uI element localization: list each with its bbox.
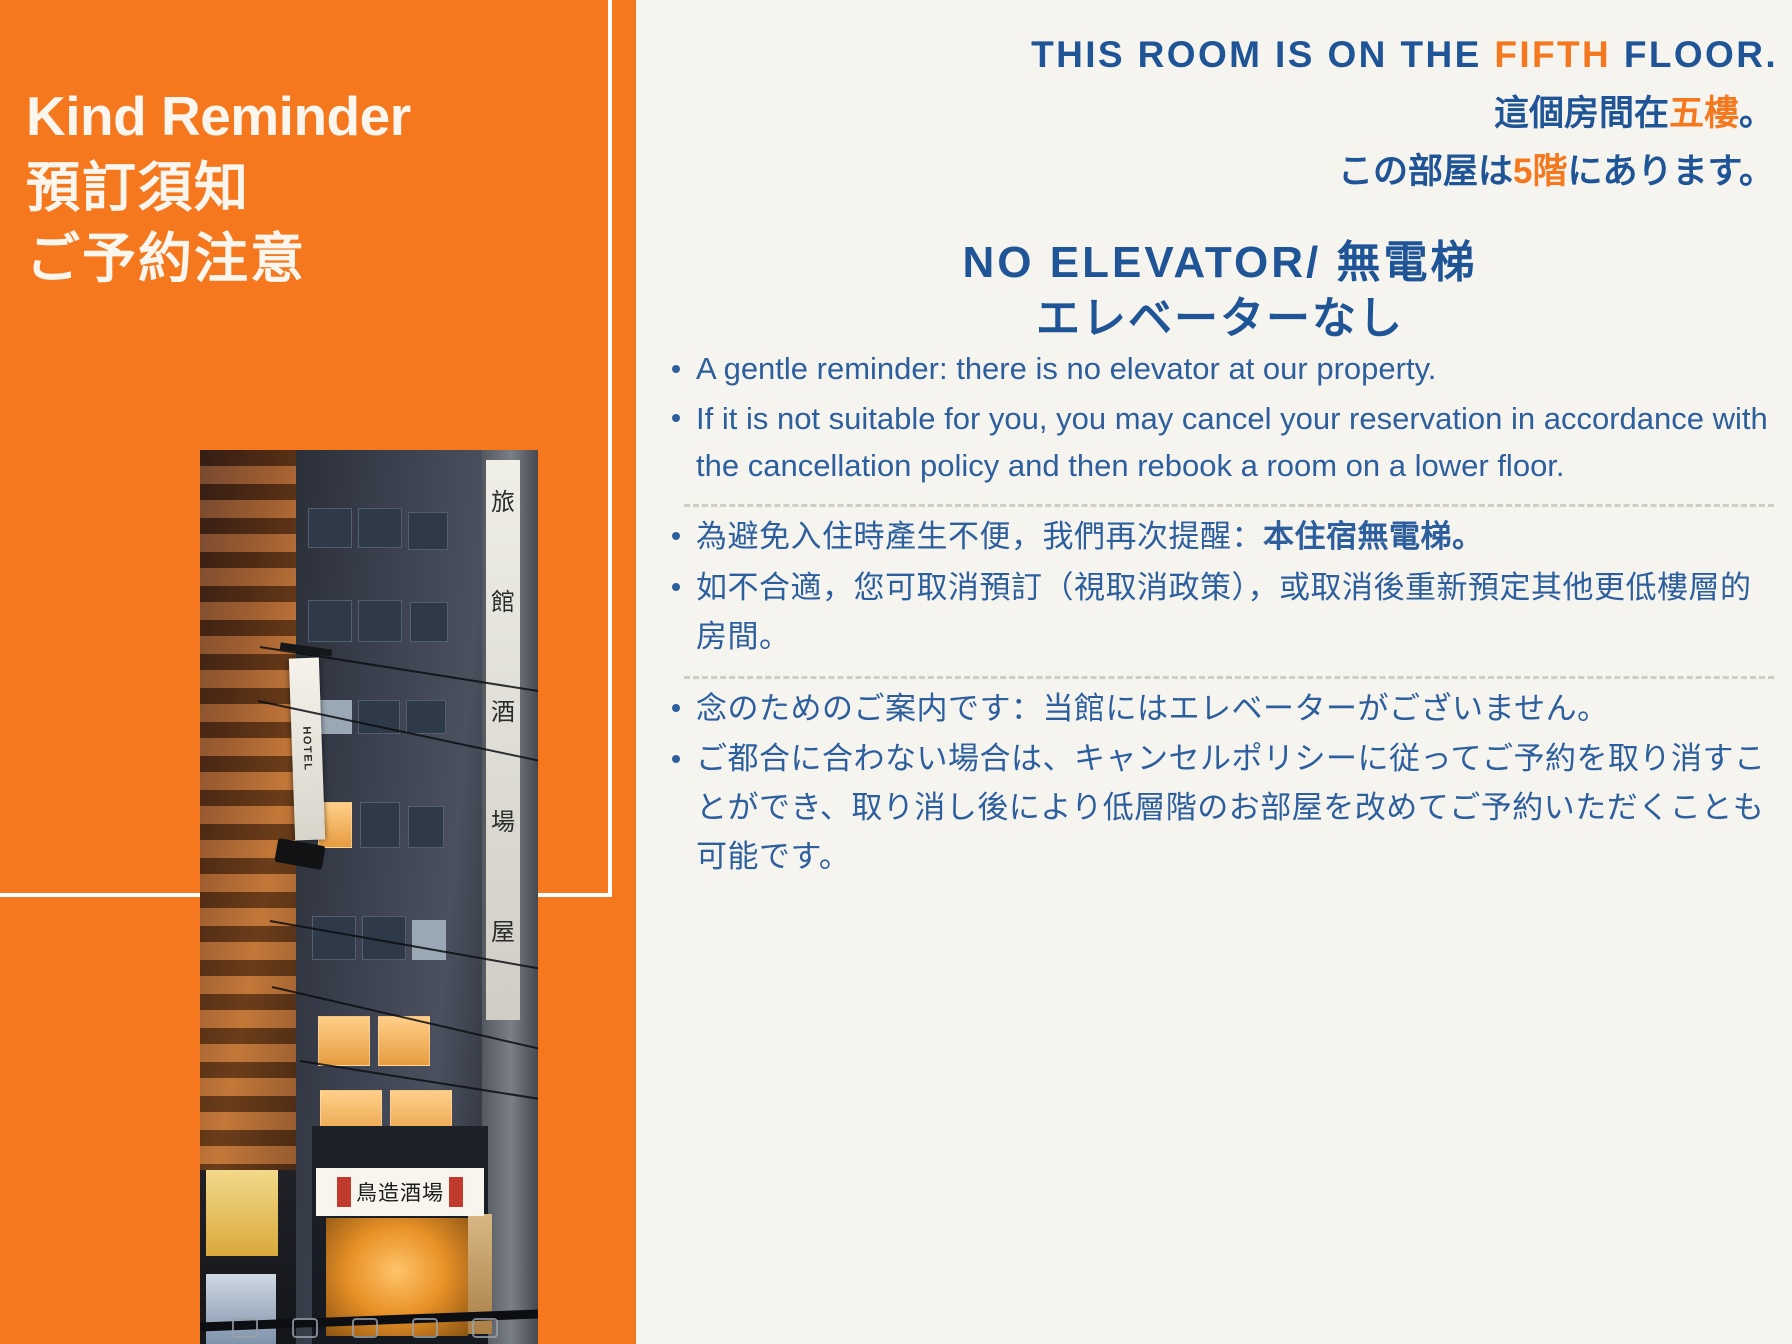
hotel-exterior-photo: HOTEL 旅 館 酒 場 屋 鳥造酒場 bbox=[200, 450, 538, 1344]
parked-bicycle bbox=[292, 1318, 318, 1338]
hotel-vertical-sign: HOTEL bbox=[289, 658, 325, 841]
parked-bicycle bbox=[352, 1318, 378, 1338]
title-chinese: 預訂須知 bbox=[26, 154, 606, 223]
adjacent-brick-building bbox=[200, 450, 304, 1170]
divider-zh-ja bbox=[684, 676, 1774, 679]
list-item: 如不合適，您可取消預訂（視取消政策），或取消後重新預定其他更低樓層的房間。 bbox=[658, 564, 1782, 662]
vertical-kanji-sign: 旅 館 酒 場 屋 bbox=[486, 460, 520, 1020]
header-line-english: THIS ROOM IS ON THE FIFTH FLOOR. bbox=[658, 34, 1782, 76]
sign-red-badge bbox=[449, 1177, 463, 1207]
subhead-line-2: エレベーターなし bbox=[658, 292, 1782, 346]
zh-item-plain: 為避免入住時產生不便，我們再次提醒： bbox=[696, 519, 1263, 554]
parked-bicycle bbox=[232, 1318, 258, 1338]
window bbox=[408, 512, 448, 550]
header-zh-accent: 五樓 bbox=[1669, 94, 1739, 133]
kanji-glyph: 酒 bbox=[486, 692, 520, 727]
window bbox=[358, 600, 402, 642]
neon-signboard bbox=[206, 1170, 278, 1256]
header-line-chinese: 這個房間在五樓。 bbox=[658, 85, 1782, 136]
header-en-accent: FIFTH bbox=[1494, 34, 1611, 75]
shop-sign-kanji: 鳥造酒場 bbox=[356, 1177, 444, 1207]
window bbox=[308, 600, 352, 642]
header-line-japanese: この部屋は5階にあります。 bbox=[658, 143, 1782, 194]
list-item: 為避免入住時產生不便，我們再次提醒：本住宿無電梯。 bbox=[658, 513, 1782, 562]
right-inner: THIS ROOM IS ON THE FIFTH FLOOR. 這個房間在五樓… bbox=[636, 0, 1792, 882]
title-english: Kind Reminder bbox=[26, 86, 606, 148]
photo-inner: HOTEL 旅 館 酒 場 屋 鳥造酒場 bbox=[200, 450, 538, 1344]
title-japanese: ご予約注意 bbox=[26, 225, 606, 294]
header-ja-accent: 5階 bbox=[1513, 152, 1567, 191]
kanji-glyph: 館 bbox=[486, 582, 520, 617]
list-item: If it is not suitable for you, you may c… bbox=[658, 395, 1782, 490]
bullet-list-japanese: 念のためのご案内です：当館にはエレベーターがございません。 ご都合に合わない場合… bbox=[658, 685, 1782, 883]
bullet-list-chinese: 為避免入住時產生不便，我們再次提醒：本住宿無電梯。 如不合適，您可取消預訂（視取… bbox=[658, 513, 1782, 662]
no-elevator-subheading: NO ELEVATOR/ 無電梯 エレベーターなし bbox=[658, 236, 1782, 345]
bullet-list-english: A gentle reminder: there is no elevator … bbox=[658, 345, 1782, 489]
header-zh-prefix: 這個房間在 bbox=[1494, 94, 1669, 133]
window-lit bbox=[318, 1016, 370, 1066]
parked-bicycle bbox=[472, 1318, 498, 1338]
window bbox=[358, 508, 402, 548]
list-item: ご都合に合わない場合は、キャンセルポリシーに従ってご予約を取り消すことができ、取… bbox=[658, 735, 1782, 882]
frame-line-vertical bbox=[608, 0, 612, 897]
kanji-glyph: 場 bbox=[486, 802, 520, 837]
list-item: A gentle reminder: there is no elevator … bbox=[658, 345, 1782, 392]
zh-item-bold: 本住宿無電梯。 bbox=[1263, 519, 1484, 554]
izakaya-signboard: 鳥造酒場 bbox=[316, 1168, 484, 1216]
window bbox=[312, 916, 356, 960]
header-ja-suffix: にあります。 bbox=[1567, 152, 1774, 191]
zh-item-plain: 如不合適，您可取消預訂（視取消政策），或取消後重新預定其他更低樓層的房間。 bbox=[696, 570, 1752, 654]
hotel-sign-label: HOTEL bbox=[300, 726, 314, 772]
kanji-glyph: 屋 bbox=[486, 912, 520, 947]
left-heading-block: Kind Reminder 預訂須知 ご予約注意 bbox=[26, 86, 606, 294]
window bbox=[308, 508, 352, 548]
right-content-panel: THIS ROOM IS ON THE FIFTH FLOOR. 這個房間在五樓… bbox=[636, 0, 1792, 1344]
kanji-glyph: 旅 bbox=[486, 482, 520, 517]
parked-bicycle bbox=[412, 1318, 438, 1338]
sign-red-badge bbox=[337, 1177, 351, 1207]
window bbox=[410, 602, 448, 642]
header-en-suffix: FLOOR. bbox=[1611, 34, 1778, 75]
window bbox=[406, 700, 446, 734]
kind-reminder-slide: Kind Reminder 預訂須知 ご予約注意 bbox=[0, 0, 1792, 1344]
divider-en-zh bbox=[684, 504, 1774, 507]
window bbox=[408, 806, 444, 848]
window bbox=[360, 802, 400, 848]
header-en-prefix: THIS ROOM IS ON THE bbox=[1031, 34, 1494, 75]
window-lit bbox=[378, 1016, 430, 1066]
subhead-line-1: NO ELEVATOR/ 無電梯 bbox=[658, 236, 1782, 290]
left-orange-panel: Kind Reminder 預訂須知 ご予約注意 bbox=[0, 0, 636, 1344]
header-zh-suffix: 。 bbox=[1739, 94, 1774, 133]
list-item: 念のためのご案内です：当館にはエレベーターがございません。 bbox=[658, 685, 1782, 734]
window bbox=[412, 920, 446, 960]
header-ja-prefix: この部屋は bbox=[1338, 152, 1513, 191]
